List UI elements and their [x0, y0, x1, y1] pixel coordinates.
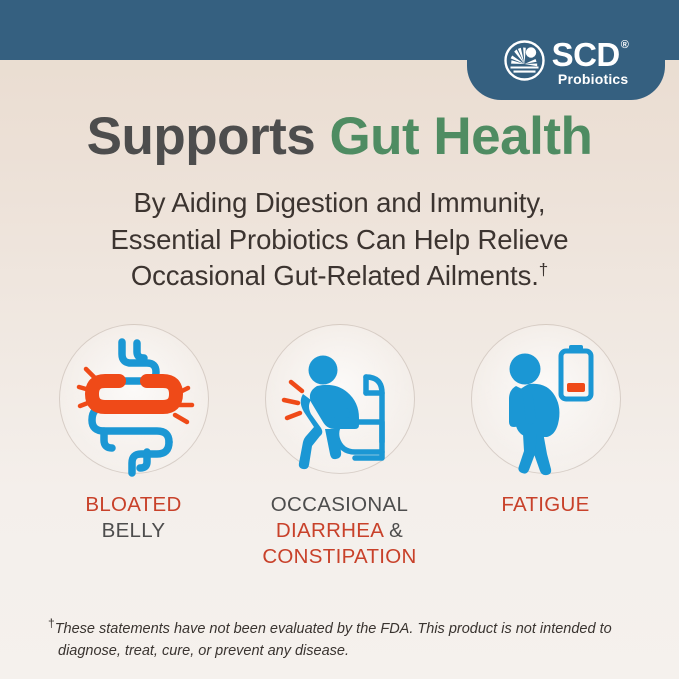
disclaimer-line-1: These statements have not been evaluated… [55, 621, 612, 637]
caption-line-3: CONSTIPATION [262, 544, 416, 570]
page-title: Supports Gut Health [0, 108, 679, 165]
benefit-item-fatigue: FATIGUE [443, 330, 649, 518]
benefit-item-diarrhea-constipation: OCCASIONAL DIARRHEA & CONSTIPATION [237, 330, 443, 571]
caption-line-2: DIARRHEA [276, 519, 383, 542]
headline-part-1: Supports [87, 107, 330, 166]
tired-person-low-battery-icon [471, 330, 621, 480]
benefit-caption: OCCASIONAL DIARRHEA & CONSTIPATION [262, 492, 416, 571]
benefit-item-bloated-belly: BLOATED BELLY [31, 330, 237, 544]
subtitle: By Aiding Digestion and Immunity, Essent… [0, 185, 679, 295]
benefit-caption: BLOATED BELLY [85, 492, 181, 544]
icon-stage [260, 330, 420, 480]
caption-line-1: FATIGUE [501, 492, 589, 518]
caption-line-2-suffix: & [383, 519, 403, 542]
inflamed-intestine-icon [59, 330, 209, 480]
headline-part-2: Gut Health [329, 107, 592, 166]
subtitle-line-1: By Aiding Digestion and Immunity, [0, 185, 679, 222]
brand-logo: SCD ® Probiotics [504, 38, 629, 86]
benefits-row: BLOATED BELLY [0, 330, 679, 571]
caption-line-2-wrap: DIARRHEA & [262, 518, 416, 544]
caption-line-1: OCCASIONAL [262, 492, 416, 518]
disclaimer-line-2: diagnose, treat, cure, or prevent any di… [48, 640, 638, 662]
fda-disclaimer: †These statements have not been evaluate… [48, 614, 638, 663]
subtitle-line-3-wrap: Occasional Gut-Related Ailments.† [0, 258, 679, 295]
person-on-toilet-icon [265, 330, 415, 480]
brand-logo-tab[interactable]: SCD ® Probiotics [467, 0, 665, 100]
brand-name: SCD [552, 38, 620, 71]
icon-stage [466, 330, 626, 480]
brand-wordmark: SCD ® Probiotics [552, 38, 629, 86]
dagger-footnote-mark: † [539, 260, 548, 279]
registered-mark: ® [621, 40, 629, 51]
dagger-mark: † [48, 616, 55, 630]
subtitle-line-3: Occasional Gut-Related Ailments. [131, 260, 539, 291]
subtitle-line-2: Essential Probiotics Can Help Relieve [0, 222, 679, 259]
icon-stage [54, 330, 214, 480]
brand-tagline: Probiotics [552, 72, 629, 86]
benefit-caption: FATIGUE [501, 492, 589, 518]
caption-line-2: BELLY [85, 518, 181, 544]
caption-line-1: BLOATED [85, 492, 181, 518]
low-battery-icon [561, 345, 591, 399]
sunburst-circle-icon [504, 40, 545, 81]
